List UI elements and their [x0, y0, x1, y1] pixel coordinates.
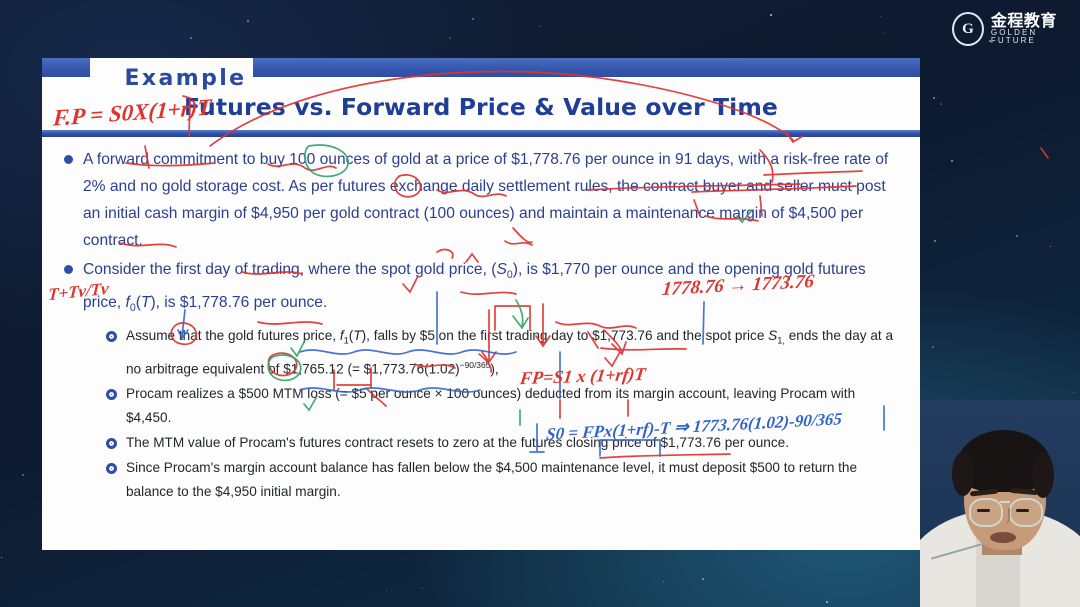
bullet-text: Procam realizes a $500 MTM loss (= $5 pe… — [126, 382, 904, 430]
sub-bullet-marker-icon — [106, 331, 117, 342]
logo-text: 金程教育 GOLDEN FUTURE — [991, 13, 1080, 46]
title-divider — [42, 130, 920, 137]
slide-label: Example — [98, 66, 273, 91]
bullet-item: A forward commitment to buy 100 ounces o… — [64, 146, 904, 254]
glasses-bridge-icon — [1000, 501, 1010, 503]
brand-logo: G 金程教育 GOLDEN FUTURE — [952, 12, 1080, 46]
bullet-text: The MTM value of Procam's futures contra… — [126, 431, 789, 455]
bullet-text: Consider the first day of trading, where… — [83, 256, 904, 322]
sub-bullet-marker-icon — [106, 438, 117, 449]
logo-english-name: GOLDEN FUTURE — [991, 29, 1080, 45]
glasses-lens-right — [1009, 498, 1043, 527]
sub-bullet-item: The MTM value of Procam's futures contra… — [106, 431, 904, 455]
presenter-mouth — [990, 532, 1016, 543]
bullet-marker-icon — [64, 155, 73, 164]
bullet-item: Consider the first day of trading, where… — [64, 256, 904, 322]
bullet-text: Assume that the gold futures price, f1(T… — [126, 324, 904, 381]
presenter-nose — [999, 508, 1010, 524]
logo-emblem-icon: G — [952, 12, 984, 46]
logo-chinese-name: 金程教育 — [991, 13, 1080, 29]
presenter-hair-left — [952, 452, 974, 496]
slide-body: A forward commitment to buy 100 ounces o… — [64, 146, 904, 505]
slide-canvas: Example Futures vs. Forward Price & Valu… — [42, 58, 920, 550]
sub-bullet-item: Assume that the gold futures price, f1(T… — [106, 324, 904, 381]
sub-bullet-marker-icon — [106, 463, 117, 474]
bullet-text: Since Procam's margin account balance ha… — [126, 456, 904, 504]
presenter-webcam[interactable] — [920, 400, 1080, 607]
sub-bullet-marker-icon — [106, 389, 117, 400]
presentation-screen: G 金程教育 GOLDEN FUTURE Example Futures vs.… — [0, 0, 1080, 607]
sub-bullet-item: Procam realizes a $500 MTM loss (= $5 pe… — [106, 382, 904, 430]
slide-title: Futures vs. Forward Price & Value over T… — [42, 93, 920, 121]
presenter-eye-left — [977, 509, 990, 512]
bullet-marker-icon — [64, 265, 73, 274]
presenter-eye-right — [1016, 509, 1029, 512]
sub-bullet-item: Since Procam's margin account balance ha… — [106, 456, 904, 504]
glasses-lens-left — [969, 498, 1003, 527]
bullet-text: A forward commitment to buy 100 ounces o… — [83, 146, 904, 254]
